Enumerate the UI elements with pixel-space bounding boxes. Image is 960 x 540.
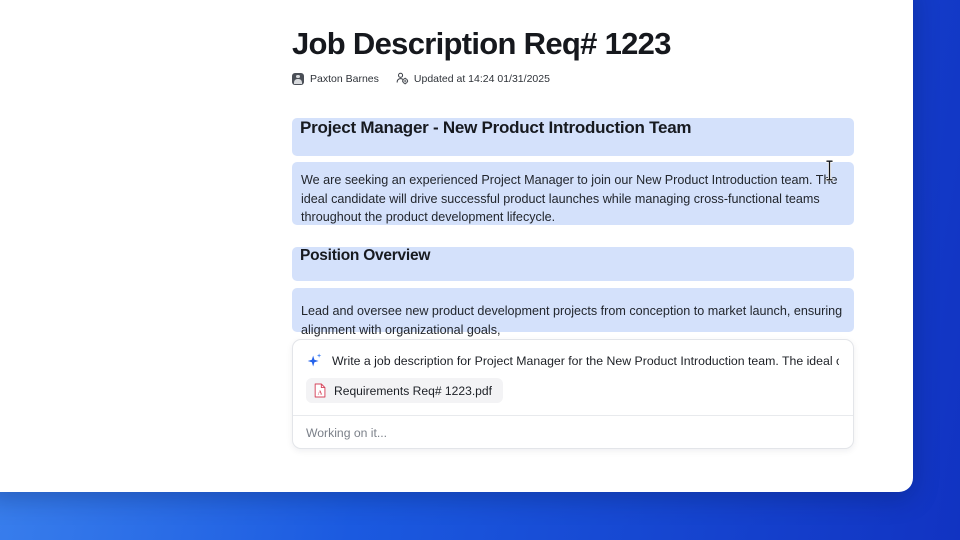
user-avatar-icon (292, 73, 304, 85)
document-surface: Job Description Req# 1223 Paxton Barnes … (0, 0, 913, 492)
meta-author[interactable]: Paxton Barnes (292, 73, 379, 85)
position-overview-heading: Position Overview (292, 247, 854, 265)
document-header: Job Description Req# 1223 Paxton Barnes … (292, 26, 892, 85)
attachment-filename: Requirements Req# 1223.pdf (334, 384, 492, 398)
highlighted-block-position-overview-body[interactable]: Lead and oversee new product development… (292, 288, 854, 332)
document-inner: Job Description Req# 1223 Paxton Barnes … (0, 0, 913, 492)
job-title-heading: Project Manager - New Product Introducti… (292, 118, 854, 138)
ai-prompt-text: Write a job description for Project Mana… (332, 353, 839, 369)
ai-prompt-card[interactable]: Write a job description for Project Mana… (292, 339, 854, 449)
sparkle-icon (306, 352, 323, 369)
ai-prompt-row[interactable]: Write a job description for Project Mana… (293, 340, 853, 369)
document-meta-row: Paxton Barnes Updated at 14:24 01/31/202… (292, 72, 892, 85)
intro-paragraph: We are seeking an experienced Project Ma… (292, 162, 854, 237)
updated-timestamp: Updated at 14:24 01/31/2025 (414, 73, 550, 85)
meta-updated: Updated at 14:24 01/31/2025 (396, 72, 550, 85)
user-gear-icon (396, 72, 409, 85)
ai-status-text: Working on it... (306, 426, 387, 440)
attachment-chip[interactable]: A Requirements Req# 1223.pdf (306, 378, 503, 403)
highlighted-block-position-overview-heading[interactable]: Position Overview (292, 247, 854, 281)
page-title: Job Description Req# 1223 (292, 26, 892, 61)
svg-text:A: A (318, 390, 323, 396)
highlighted-block-job-title[interactable]: Project Manager - New Product Introducti… (292, 118, 854, 156)
highlighted-block-intro[interactable]: We are seeking an experienced Project Ma… (292, 162, 854, 225)
ai-card-divider (293, 415, 853, 416)
author-name: Paxton Barnes (310, 73, 379, 85)
pdf-file-icon: A (313, 383, 327, 398)
